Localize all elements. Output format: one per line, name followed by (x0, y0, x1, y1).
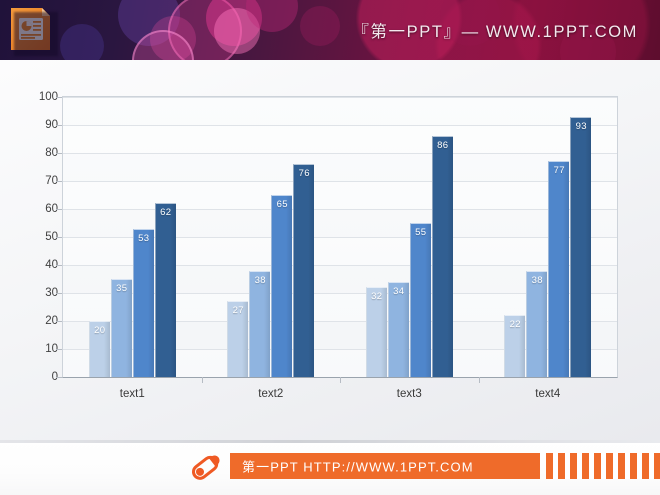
chart-bar: 53 (133, 229, 154, 377)
bar-value-label: 77 (549, 165, 569, 176)
chart-bar: 93 (570, 117, 591, 377)
chart-gridline (63, 97, 617, 98)
y-axis-tick-mark (56, 293, 62, 294)
chart-bar: 27 (227, 301, 248, 377)
y-axis-tick-label: 40 (18, 259, 58, 271)
bokeh-circle (214, 8, 260, 54)
x-axis-tick-label: text3 (340, 388, 479, 400)
slide-body: 20355362273865763234558622387793 0102030… (0, 60, 660, 440)
bar-value-label: 86 (433, 140, 453, 151)
chart-bar: 86 (432, 136, 453, 377)
bar-value-label: 34 (389, 286, 409, 297)
y-axis-tick-label: 10 (18, 343, 58, 355)
chart-bar: 35 (111, 279, 132, 377)
y-axis-tick-mark (56, 153, 62, 154)
bar-value-label: 38 (250, 275, 270, 286)
chart-gridline (63, 181, 617, 182)
footer-url-text: 第一PPT HTTP://WWW.1PPT.COM (242, 457, 474, 476)
chart-bar: 62 (155, 203, 176, 377)
x-axis-separator (340, 377, 341, 383)
bar-value-label: 55 (411, 227, 431, 238)
chart-bar: 38 (249, 271, 270, 377)
chart-bar: 55 (410, 223, 431, 377)
y-axis-tick-mark (56, 181, 62, 182)
chart-gridline (63, 153, 617, 154)
x-axis-tick-label: text1 (63, 388, 202, 400)
footer-divider (0, 440, 660, 443)
bokeh-circle (60, 24, 104, 60)
chart-bar: 22 (504, 315, 525, 377)
header-title: 『第一PPT』— WWW.1PPT.COM (352, 18, 638, 42)
chart-bar: 65 (271, 195, 292, 377)
chart-bar: 38 (526, 271, 547, 377)
y-axis-tick-mark (56, 237, 62, 238)
chart-band (63, 125, 617, 153)
y-axis-tick-label: 70 (18, 175, 58, 187)
y-axis-tick-label: 0 (18, 371, 58, 383)
bar-value-label: 38 (527, 275, 547, 286)
bar-value-label: 65 (272, 199, 292, 210)
chart-bar: 20 (89, 321, 110, 377)
bokeh-circle (118, 0, 180, 46)
bar-value-label: 20 (90, 325, 110, 336)
y-axis-tick-label: 80 (18, 147, 58, 159)
bar-value-label: 27 (228, 305, 248, 316)
y-axis-tick-label: 90 (18, 119, 58, 131)
y-axis-tick-mark (56, 321, 62, 322)
chart-bar: 34 (388, 282, 409, 377)
y-axis-tick-mark (56, 377, 62, 378)
bar-value-label: 93 (571, 121, 591, 132)
footer-url-bar: 第一PPT HTTP://WWW.1PPT.COM (230, 453, 540, 479)
y-axis-tick-mark (56, 97, 62, 98)
y-axis-tick-label: 100 (18, 91, 58, 103)
bar-value-label: 53 (134, 233, 154, 244)
chart-gridline (63, 209, 617, 210)
footer-stripes (546, 453, 660, 479)
y-axis-tick-label: 60 (18, 203, 58, 215)
bar-value-label: 76 (294, 168, 314, 179)
bokeh-circle (168, 0, 242, 60)
bar-value-label: 22 (505, 319, 525, 330)
y-axis-tick-mark (56, 265, 62, 266)
y-axis-tick-label: 20 (18, 315, 58, 327)
chart-gridline (63, 125, 617, 126)
chart-plot-area: 20355362273865763234558622387793 (62, 96, 618, 378)
bar-chart: 20355362273865763234558622387793 0102030… (0, 60, 660, 440)
y-axis-tick-mark (56, 125, 62, 126)
y-axis-tick-label: 30 (18, 287, 58, 299)
bar-value-label: 35 (112, 283, 132, 294)
powerpoint-logo-icon (8, 6, 56, 54)
bokeh-circle (132, 30, 194, 60)
slide: 『第一PPT』— WWW.1PPT.COM 203553622738657632… (0, 0, 660, 495)
bar-value-label: 62 (156, 207, 176, 218)
bar-value-label: 32 (367, 291, 387, 302)
chart-bar: 76 (293, 164, 314, 377)
bokeh-circle (206, 0, 262, 46)
chart-bar: 77 (548, 161, 569, 377)
y-axis-tick-mark (56, 209, 62, 210)
slide-header: 『第一PPT』— WWW.1PPT.COM (0, 0, 660, 60)
x-axis-separator (202, 377, 203, 383)
y-axis-tick-mark (56, 349, 62, 350)
chart-band (63, 181, 617, 209)
x-axis-tick-label: text4 (479, 388, 618, 400)
x-axis-separator (479, 377, 480, 383)
bokeh-circle (150, 16, 196, 60)
chart-bar: 32 (366, 287, 387, 377)
y-axis-tick-label: 50 (18, 231, 58, 243)
slide-footer: 第一PPT HTTP://WWW.1PPT.COM (0, 440, 660, 495)
bokeh-circle (246, 0, 298, 32)
x-axis-tick-label: text2 (202, 388, 341, 400)
bokeh-circle (300, 6, 340, 46)
pen-icon (186, 450, 228, 484)
